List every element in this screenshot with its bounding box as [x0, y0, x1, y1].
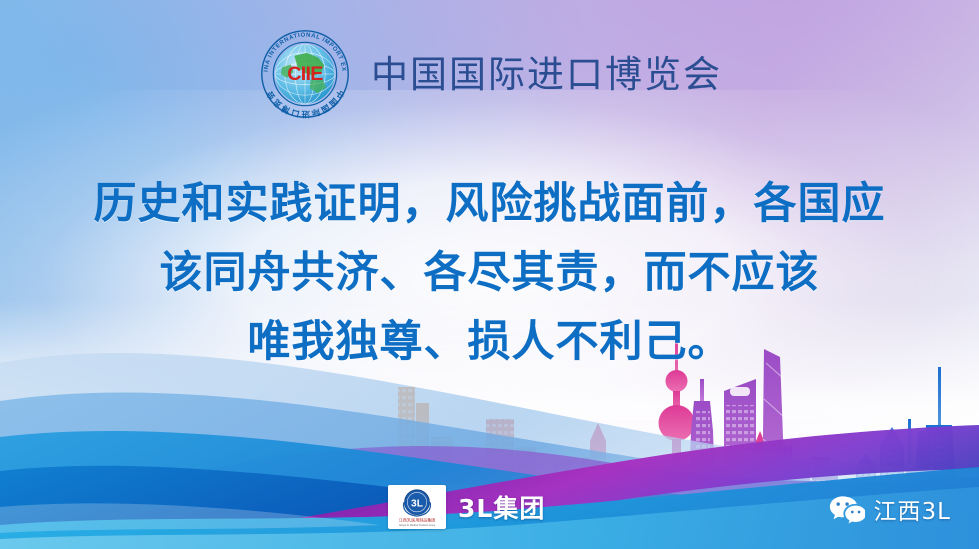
brand-logo-card: 3L 江西3L医用制品集团 Jiangxi 3L Medical Product…	[388, 485, 446, 529]
slogan-block: 历史和实践证明，风险挑战面前，各国应 该同舟共济、各尽其责，而不应该 唯我独尊、…	[0, 170, 979, 377]
ciie-acronym-text: CIIE	[287, 63, 323, 85]
ciie-globe-logo: CHINA INTERNATIONAL IMPORT EXPO 中国国际进口博览…	[257, 26, 353, 122]
wechat-icon	[829, 494, 865, 524]
wechat-label: 江西3L	[874, 492, 951, 526]
emblem-sub-en: Jiangxi 3L Medical Products Group	[399, 524, 436, 527]
svg-text:3L: 3L	[411, 498, 423, 509]
slogan-line-3: 唯我独尊、损人不利己。	[0, 308, 979, 377]
brand-label: 3L集团	[458, 489, 545, 525]
poster-canvas: CHINA INTERNATIONAL IMPORT EXPO 中国国际进口博览…	[0, 0, 979, 549]
slogan-line-2: 该同舟共济、各尽其责，而不应该	[0, 239, 979, 308]
3l-group-emblem: 3L 江西3L医用制品集团 Jiangxi 3L Medical Product…	[390, 486, 444, 528]
emblem-sub-cn: 江西3L医用制品集团	[399, 518, 436, 523]
wechat-account[interactable]: 江西3L	[829, 492, 951, 526]
poster-header: CHINA INTERNATIONAL IMPORT EXPO 中国国际进口博览…	[0, 26, 979, 122]
slogan-line-1: 历史和实践证明，风险挑战面前，各国应	[0, 170, 979, 239]
page-title: 中国国际进口博览会	[371, 56, 722, 93]
brand-3l-group[interactable]: 3L 江西3L医用制品集团 Jiangxi 3L Medical Product…	[388, 485, 545, 529]
